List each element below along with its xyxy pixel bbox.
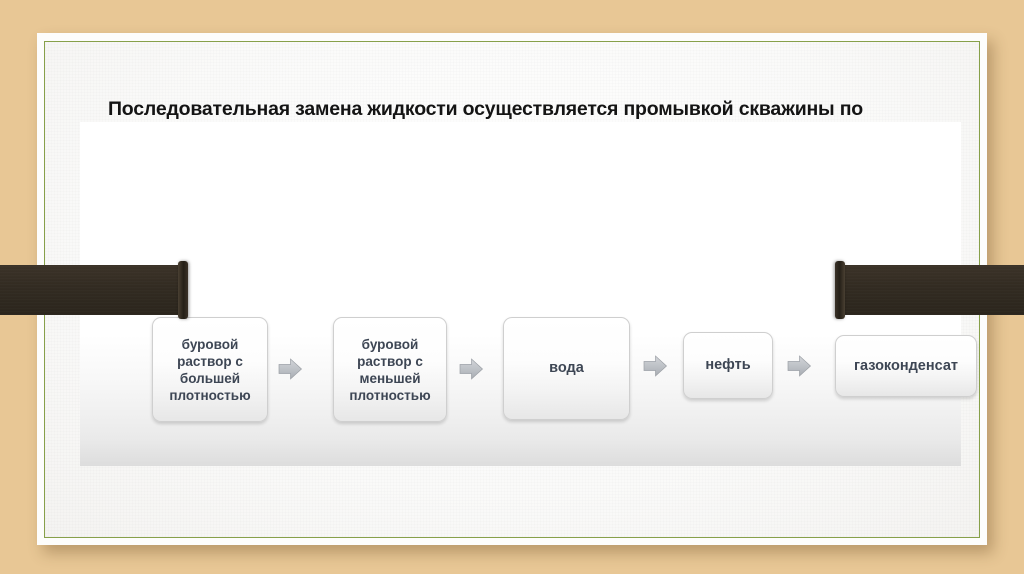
flow-node-label: вода bbox=[549, 360, 584, 377]
arrow-right-icon bbox=[457, 355, 485, 383]
flow-node-oil[interactable]: нефть bbox=[683, 332, 773, 399]
flow-node-label: нефть bbox=[705, 357, 750, 374]
page-title-line-1: Последовательная замена жидкости осущест… bbox=[108, 98, 734, 120]
flow-node-label: буровой раствор с меньшей плотностью bbox=[340, 336, 440, 404]
slide-stage: Последовательная замена жидкости осущест… bbox=[0, 0, 1024, 574]
diagram-panel: буровой раствор с большей плотностью bbox=[80, 122, 961, 466]
flow-node-drilling-mud-lower-density[interactable]: буровой раствор с меньшей плотностью bbox=[333, 317, 447, 422]
flow-node-water[interactable]: вода bbox=[503, 317, 630, 420]
flow-node-gas-condensate[interactable]: газоконденсат bbox=[835, 335, 977, 397]
process-flow: буровой раствор с большей плотностью bbox=[80, 122, 961, 466]
arrow-right-icon bbox=[276, 355, 304, 383]
ribbon-bar-left bbox=[0, 265, 183, 315]
flow-node-drilling-mud-higher-density[interactable]: буровой раствор с большей плотностью bbox=[152, 317, 268, 422]
ribbon-bar-right bbox=[840, 265, 1024, 315]
flow-node-label: газоконденсат bbox=[854, 358, 958, 375]
flow-node-label: буровой раствор с большей плотностью bbox=[159, 336, 261, 404]
arrow-right-icon bbox=[641, 352, 669, 380]
arrow-right-icon bbox=[785, 352, 813, 380]
